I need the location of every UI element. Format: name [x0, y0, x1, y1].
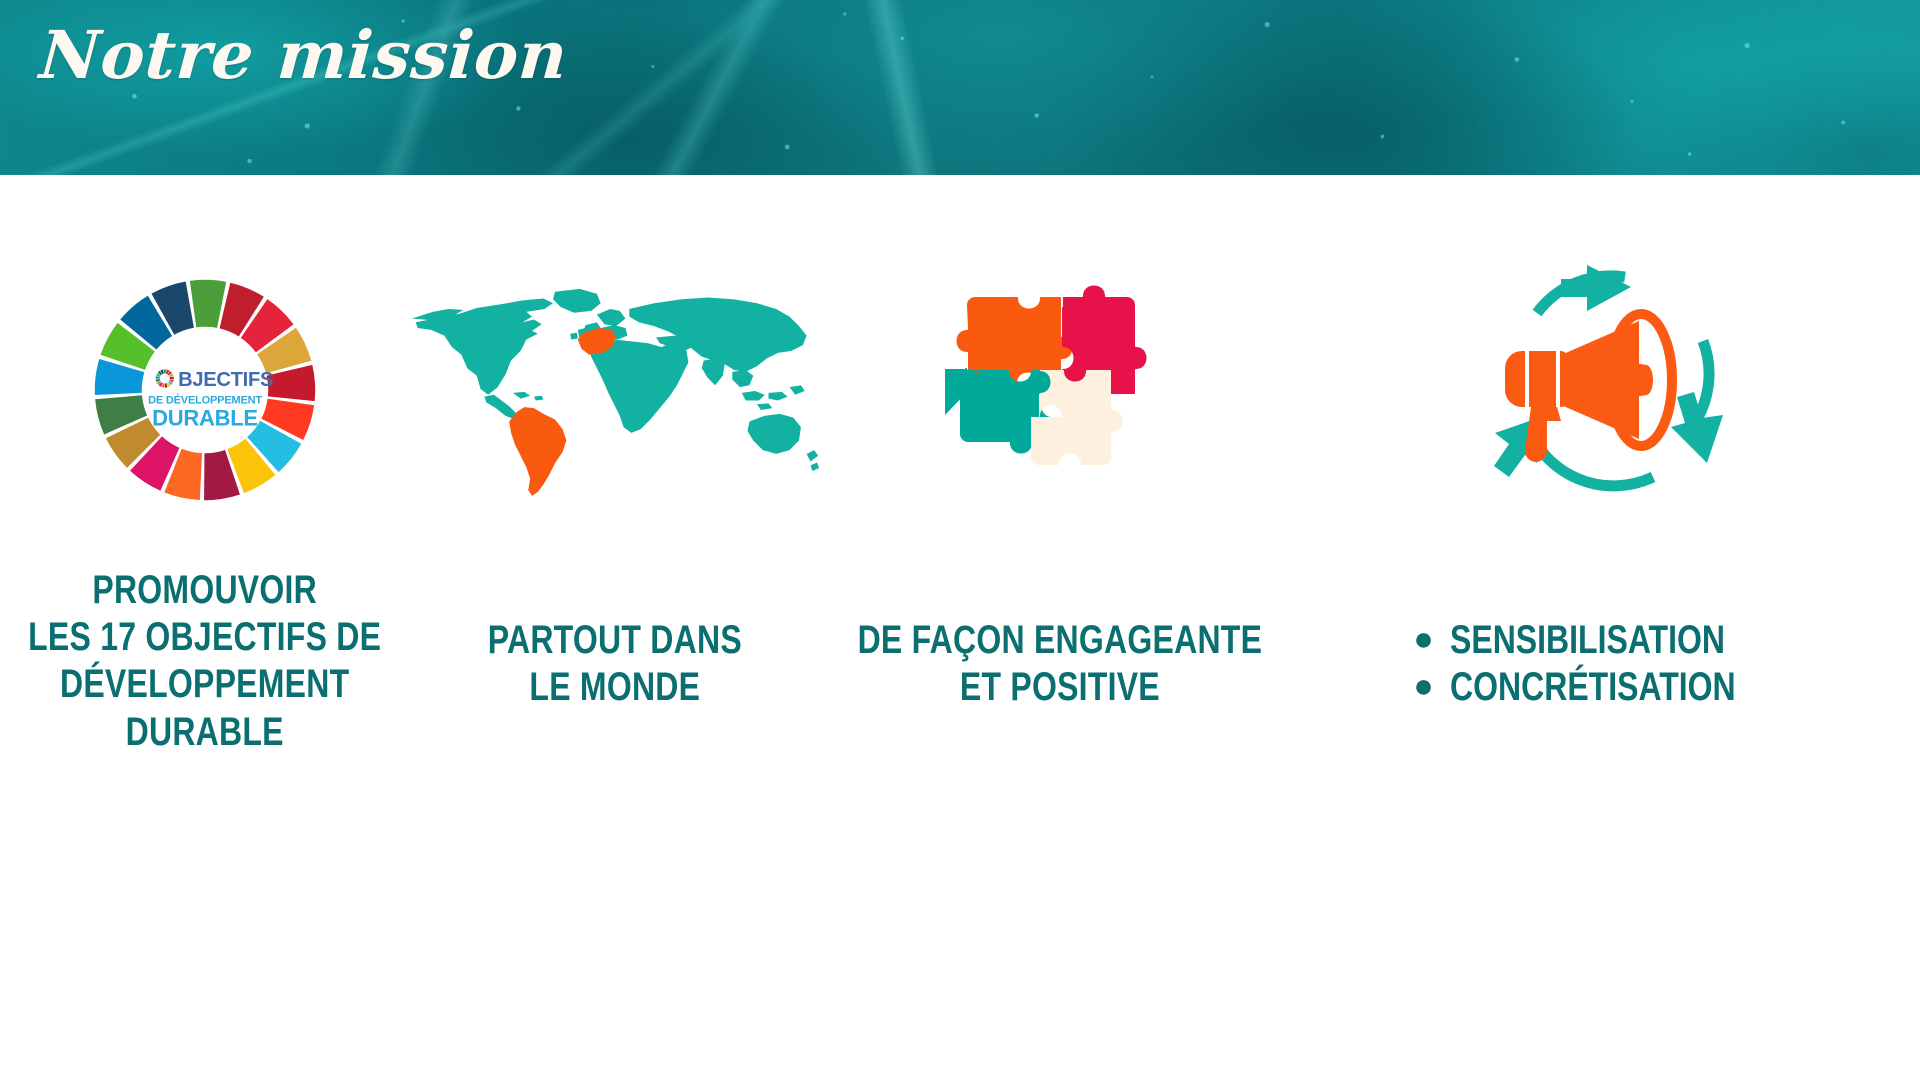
mission-columns: BJECTIFS DE DÉVELOPPEMENT DURABLE PROMOU…	[0, 175, 1920, 1080]
action-bullet-list: ● SENSIBILISATION ● CONCRÉTISATION	[1413, 617, 1807, 711]
header-band: Notre mission	[0, 0, 1920, 175]
caption-wrap: PARTOUT DANS LE MONDE	[410, 505, 820, 711]
bullet-dot-icon: ●	[1413, 669, 1434, 703]
sdg-wheel-icon: BJECTIFS DE DÉVELOPPEMENT DURABLE	[90, 275, 320, 505]
page-title: Notre mission	[38, 22, 570, 88]
puzzle-pieces-icon	[945, 275, 1175, 505]
column-de-facon-engageante: DE FAÇON ENGAGEANTE ET POSITIVE	[820, 175, 1300, 1080]
caption-wrap: PROMOUVOIR LES 17 OBJECTIFS DE DÉVELOPPE…	[0, 505, 410, 756]
caption-engageante: DE FAÇON ENGAGEANTE ET POSITIVE	[858, 617, 1263, 711]
sdg-logo-line3: DURABLE	[152, 405, 258, 430]
column-promouvoir: BJECTIFS DE DÉVELOPPEMENT DURABLE PROMOU…	[0, 175, 410, 1080]
column-actions: ● SENSIBILISATION ● CONCRÉTISATION	[1300, 175, 1920, 1080]
puzzle-art	[820, 175, 1300, 505]
world-map-art	[410, 175, 820, 505]
caption-line: LE MONDE	[488, 664, 742, 711]
caption-line: LES 17 OBJECTIFS DE	[28, 614, 381, 661]
caption-promouvoir: PROMOUVOIR LES 17 OBJECTIFS DE DÉVELOPPE…	[28, 567, 381, 756]
sdg-wheel-art: BJECTIFS DE DÉVELOPPEMENT DURABLE	[0, 175, 410, 505]
caption-line: DE FAÇON ENGAGEANTE	[858, 617, 1263, 664]
megaphone-body-icon	[1505, 314, 1672, 462]
caption-line: PARTOUT DANS	[488, 617, 742, 664]
slide-root: Notre mission BJECTIFS DE DÉVELOPPEMENT …	[0, 0, 1920, 1080]
caption-partout: PARTOUT DANS LE MONDE	[488, 617, 742, 711]
bullet-label: CONCRÉTISATION	[1450, 664, 1736, 711]
sdg-logo-line1: BJECTIFS	[178, 369, 273, 391]
caption-line: PROMOUVOIR	[28, 567, 381, 614]
megaphone-art	[1300, 175, 1920, 505]
caption-line: ET POSITIVE	[858, 664, 1263, 711]
bullet-label: SENSIBILISATION	[1450, 617, 1725, 664]
caption-line: DÉVELOPPEMENT	[28, 661, 381, 708]
sdg-logo-line2: DE DÉVELOPPEMENT	[148, 393, 262, 406]
caption-wrap: DE FAÇON ENGAGEANTE ET POSITIVE	[820, 505, 1300, 711]
bullet-dot-icon: ●	[1413, 622, 1434, 656]
world-map-icon	[410, 275, 820, 505]
column-partout-dans-le-monde: PARTOUT DANS LE MONDE	[410, 175, 820, 1080]
megaphone-cycle-icon	[1475, 255, 1745, 505]
sdg-wheel-segment	[190, 280, 226, 328]
list-item: ● SENSIBILISATION	[1413, 617, 1807, 664]
caption-line: DURABLE	[28, 709, 381, 756]
list-item: ● CONCRÉTISATION	[1413, 664, 1807, 711]
